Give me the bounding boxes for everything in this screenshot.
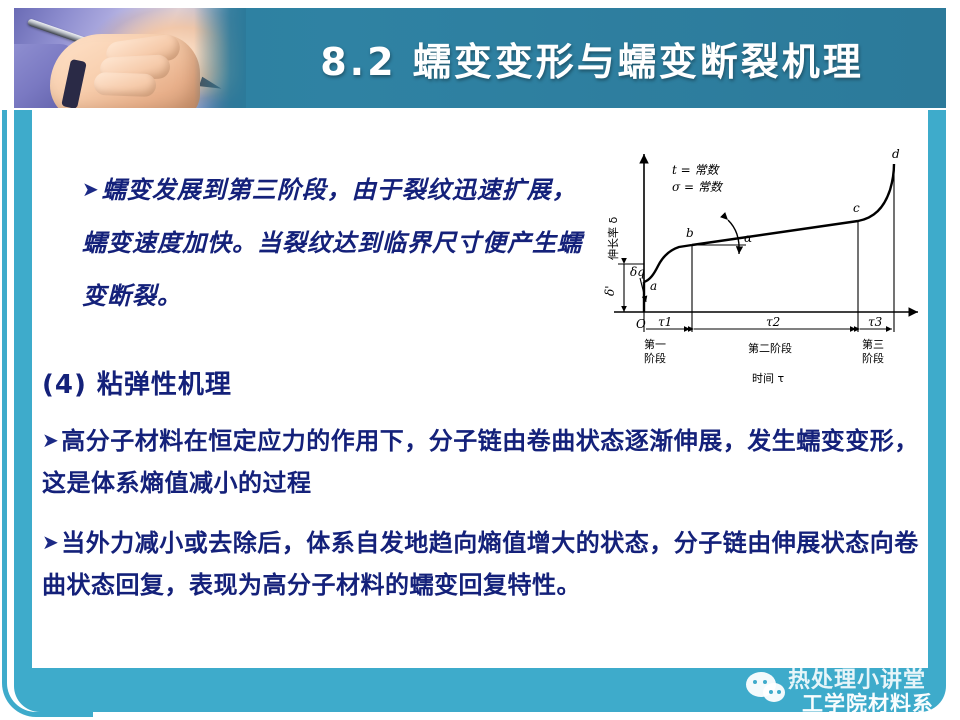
chart-point-d-label: d <box>892 147 900 161</box>
chart-steady-creep-segment <box>692 221 858 245</box>
bullet-arrow-icon: ➤ <box>42 430 59 450</box>
chart-tau1-label: τ1 <box>658 315 672 329</box>
chart-delta-prime-label: δ' <box>603 285 617 296</box>
page-title: 8.2 蠕变变形与蠕变断裂机理 <box>250 8 934 108</box>
chart-delta-q-label: δq <box>630 265 645 279</box>
paragraph-2-text: 高分子材料在恒定应力的作用下，分子链由卷曲状态逐渐伸展，发生蠕变变形，这是体系熵… <box>42 427 919 497</box>
chart-angle-arc <box>728 220 739 254</box>
frame-left-thin-border <box>2 110 7 676</box>
bullet-arrow-icon: ➤ <box>82 179 100 199</box>
chart-point-a-label: a <box>650 279 657 293</box>
frame-left-border <box>14 110 32 670</box>
chart-primary-creep-segment <box>644 245 692 282</box>
header-banner: 8.2 蠕变变形与蠕变断裂机理 <box>14 8 946 108</box>
creep-curve-svg: 伸长率 δ t = 常数 σ = 常数 a b c d δ' δ <box>600 142 930 392</box>
chart-ylabel: 伸长率 δ <box>606 217 620 260</box>
chart-stage1-label-line2: 阶段 <box>644 351 666 365</box>
chart-xlabel: 时间 τ <box>752 372 784 385</box>
bullet-arrow-icon: ➤ <box>42 532 59 552</box>
photo-fade-overlay <box>194 8 246 108</box>
paragraph-1-text: 蠕变发展到第三阶段，由于裂纹迅速扩展，蠕变速度加快。当裂纹达到临界尺寸便产生蠕变… <box>82 176 582 310</box>
navigation-bar: 主 页 目 录 上一页 下一页 后 退 退 出 <box>0 668 960 720</box>
chart-stage3-label-line1: 第三 <box>862 337 884 351</box>
chart-tau2-label: τ2 <box>766 315 780 329</box>
chart-tau3-label: τ3 <box>868 315 883 329</box>
chart-stage1-label-line1: 第一 <box>644 337 666 351</box>
chart-condition-temperature: t = 常数 <box>672 163 721 177</box>
chart-condition-stress: σ = 常数 <box>672 180 724 194</box>
paragraph-creep-recovery: ➤当外力减小或去除后，体系自发地趋向熵值增大的状态，分子链由伸展状态向卷曲状态回… <box>42 522 922 606</box>
slide-root: 8.2 蠕变变形与蠕变断裂机理 ➤蠕变发展到第三阶段，由于裂纹迅速扩展，蠕变速度… <box>0 0 960 720</box>
creep-curve-figure: 伸长率 δ t = 常数 σ = 常数 a b c d δ' δ <box>600 142 930 392</box>
header-photo <box>14 8 246 108</box>
chart-point-c-label: c <box>853 201 860 215</box>
chart-stage3-label-line2: 阶段 <box>862 351 884 365</box>
paragraph-polymer-extension: ➤高分子材料在恒定应力的作用下，分子链由卷曲状态逐渐伸展，发生蠕变变形，这是体系… <box>42 420 922 504</box>
chart-stage2-label: 第二阶段 <box>748 341 792 355</box>
paragraph-3-text: 当外力减小或去除后，体系自发地趋向熵值增大的状态，分子链由伸展状态向卷曲状态回复… <box>42 529 919 599</box>
slide-content: ➤蠕变发展到第三阶段，由于裂纹迅速扩展，蠕变速度加快。当裂纹达到临界尺寸便产生蠕… <box>34 112 928 668</box>
chart-tertiary-creep-segment <box>858 164 894 221</box>
chart-angle-label: α <box>744 231 752 245</box>
heading-viscoelastic-mechanism: (4) 粘弹性机理 <box>42 364 232 401</box>
frame-right-border <box>928 110 946 670</box>
paragraph-creep-stage-three: ➤蠕变发展到第三阶段，由于裂纹迅速扩展，蠕变速度加快。当裂纹达到临界尺寸便产生蠕… <box>82 164 592 323</box>
chart-point-b-label: b <box>686 226 694 240</box>
finger-shape <box>94 72 157 97</box>
